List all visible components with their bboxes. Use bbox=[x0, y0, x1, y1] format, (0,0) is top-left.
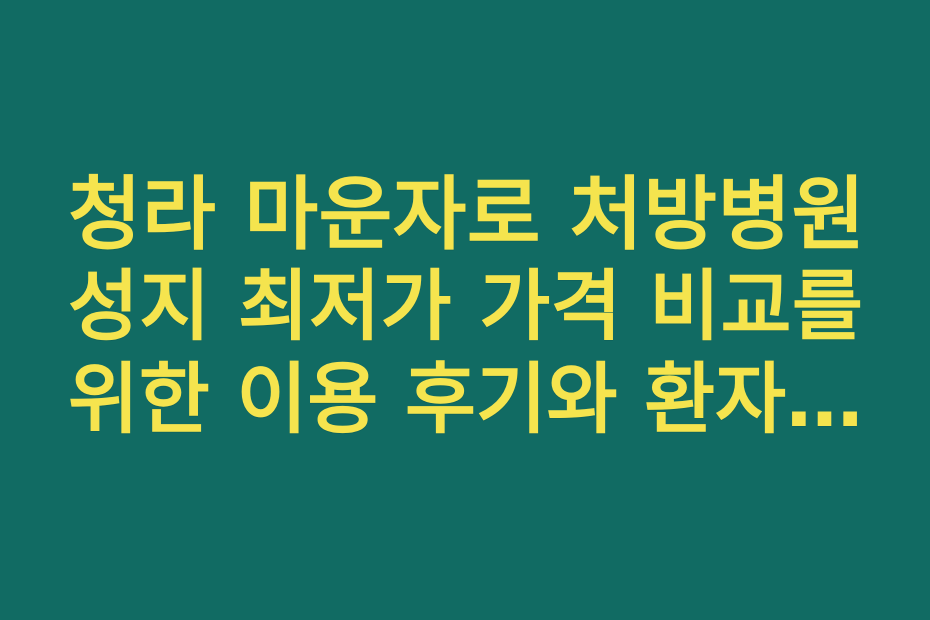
title-line-1: 청라 마운자로 처방병원 bbox=[68, 168, 868, 261]
title-line-3: 위한 이용 후기와 환자… bbox=[68, 354, 868, 447]
title-line-2: 성지 최저가 가격 비교를 bbox=[68, 261, 868, 354]
title-block: 청라 마운자로 처방병원 성지 최저가 가격 비교를 위한 이용 후기와 환자… bbox=[0, 168, 930, 447]
thumbnail-card: 청라 마운자로 처방병원 성지 최저가 가격 비교를 위한 이용 후기와 환자… bbox=[0, 0, 930, 620]
